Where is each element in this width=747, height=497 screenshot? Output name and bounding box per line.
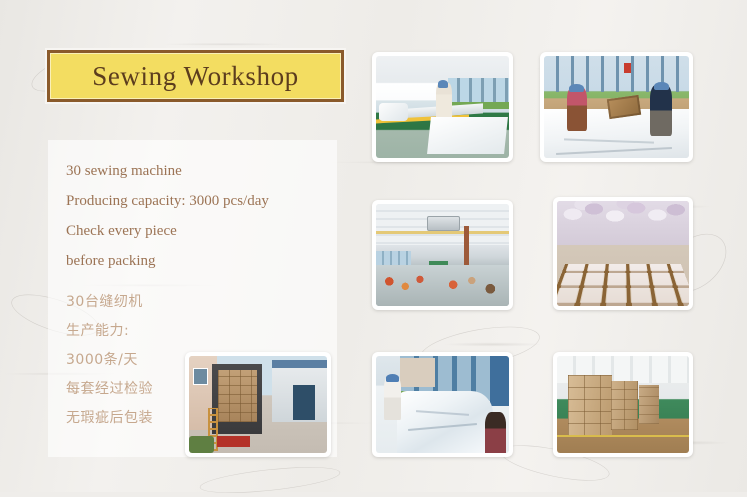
photo-sewing-line: [372, 52, 513, 162]
photo-workshop-rows: [372, 200, 513, 310]
photo-warehouse-image: [557, 356, 689, 453]
chinese-line-2: 生产能力:: [66, 317, 266, 346]
photo-open-cartons-image: [557, 201, 689, 306]
photo-plastic-wrap-image: [376, 356, 509, 453]
photo-truck-loading-image: [189, 356, 327, 453]
page-title-plaque: Sewing Workshop: [47, 50, 344, 102]
page-background: Sewing Workshop 30 sewing machine Produc…: [0, 0, 747, 492]
english-line-2: Producing capacity: 3000 pcs/day: [66, 186, 331, 216]
english-line-4: before packing: [66, 246, 331, 276]
english-text-block: 30 sewing machine Producing capacity: 30…: [66, 156, 331, 276]
photo-plastic-wrap: [372, 352, 513, 457]
photo-truck-loading: [185, 352, 331, 457]
photo-workshop-rows-image: [376, 204, 509, 306]
page-title: Sewing Workshop: [92, 61, 299, 92]
page-title-inner-border: Sewing Workshop: [50, 53, 341, 99]
photo-sewing-line-image: [376, 56, 509, 158]
english-line-3: Check every piece: [66, 216, 331, 246]
photo-two-workers: [540, 52, 693, 162]
english-line-1: 30 sewing machine: [66, 156, 331, 186]
photo-open-cartons: [553, 197, 693, 310]
photo-warehouse: [553, 352, 693, 457]
photo-two-workers-image: [544, 56, 689, 158]
chinese-line-1: 30台缝纫机: [66, 288, 266, 317]
